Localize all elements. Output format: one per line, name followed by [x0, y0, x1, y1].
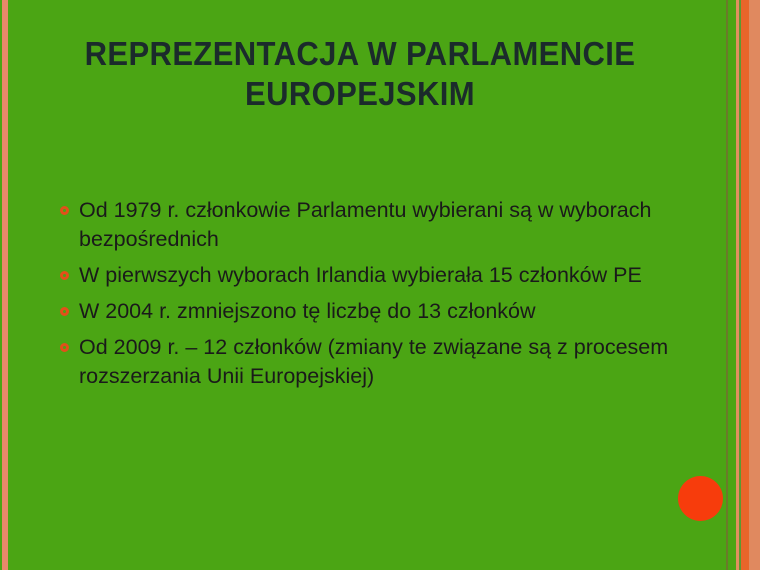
slide-title-line-1: REPREZENTACJA W PARLAMENCIE — [59, 34, 661, 74]
list-item-text: W 2004 r. zmniejszono tę liczbę do 13 cz… — [79, 297, 685, 326]
slide-body-list: Od 1979 r. członkowie Parlamentu wybiera… — [60, 196, 685, 398]
list-item-text: Od 1979 r. członkowie Parlamentu wybiera… — [79, 196, 685, 254]
right-orange-stripe — [741, 0, 749, 570]
ring-bullet-icon — [60, 307, 69, 316]
list-item-text: Od 2009 r. – 12 członków (zmiany te zwią… — [79, 333, 685, 391]
ring-bullet-icon — [60, 343, 69, 352]
orange-circle-accent — [678, 476, 723, 521]
list-item: Od 1979 r. członkowie Parlamentu wybiera… — [60, 196, 685, 254]
slide-title: REPREZENTACJA W PARLAMENCIE EUROPEJSKIM — [59, 34, 661, 114]
slide-title-line-2: EUROPEJSKIM — [59, 74, 661, 114]
left-salmon-stripe — [2, 0, 8, 570]
list-item-text: W pierwszych wyborach Irlandia wybierała… — [79, 261, 685, 290]
right-salmon-stripe-2 — [749, 0, 760, 570]
ring-bullet-icon — [60, 271, 69, 280]
right-olive-stripe — [726, 0, 728, 570]
list-item: W pierwszych wyborach Irlandia wybierała… — [60, 261, 685, 290]
left-border-green-inner — [8, 0, 11, 570]
list-item: Od 2009 r. – 12 członków (zmiany te zwią… — [60, 333, 685, 391]
list-item: W 2004 r. zmniejszono tę liczbę do 13 cz… — [60, 297, 685, 326]
left-border-green-edge — [0, 0, 2, 570]
right-green-stripe-1 — [728, 0, 736, 570]
presentation-slide: REPREZENTACJA W PARLAMENCIE EUROPEJSKIM … — [0, 0, 760, 570]
right-green-stripe-2 — [739, 0, 741, 570]
ring-bullet-icon — [60, 206, 69, 215]
right-salmon-stripe-1 — [736, 0, 739, 570]
